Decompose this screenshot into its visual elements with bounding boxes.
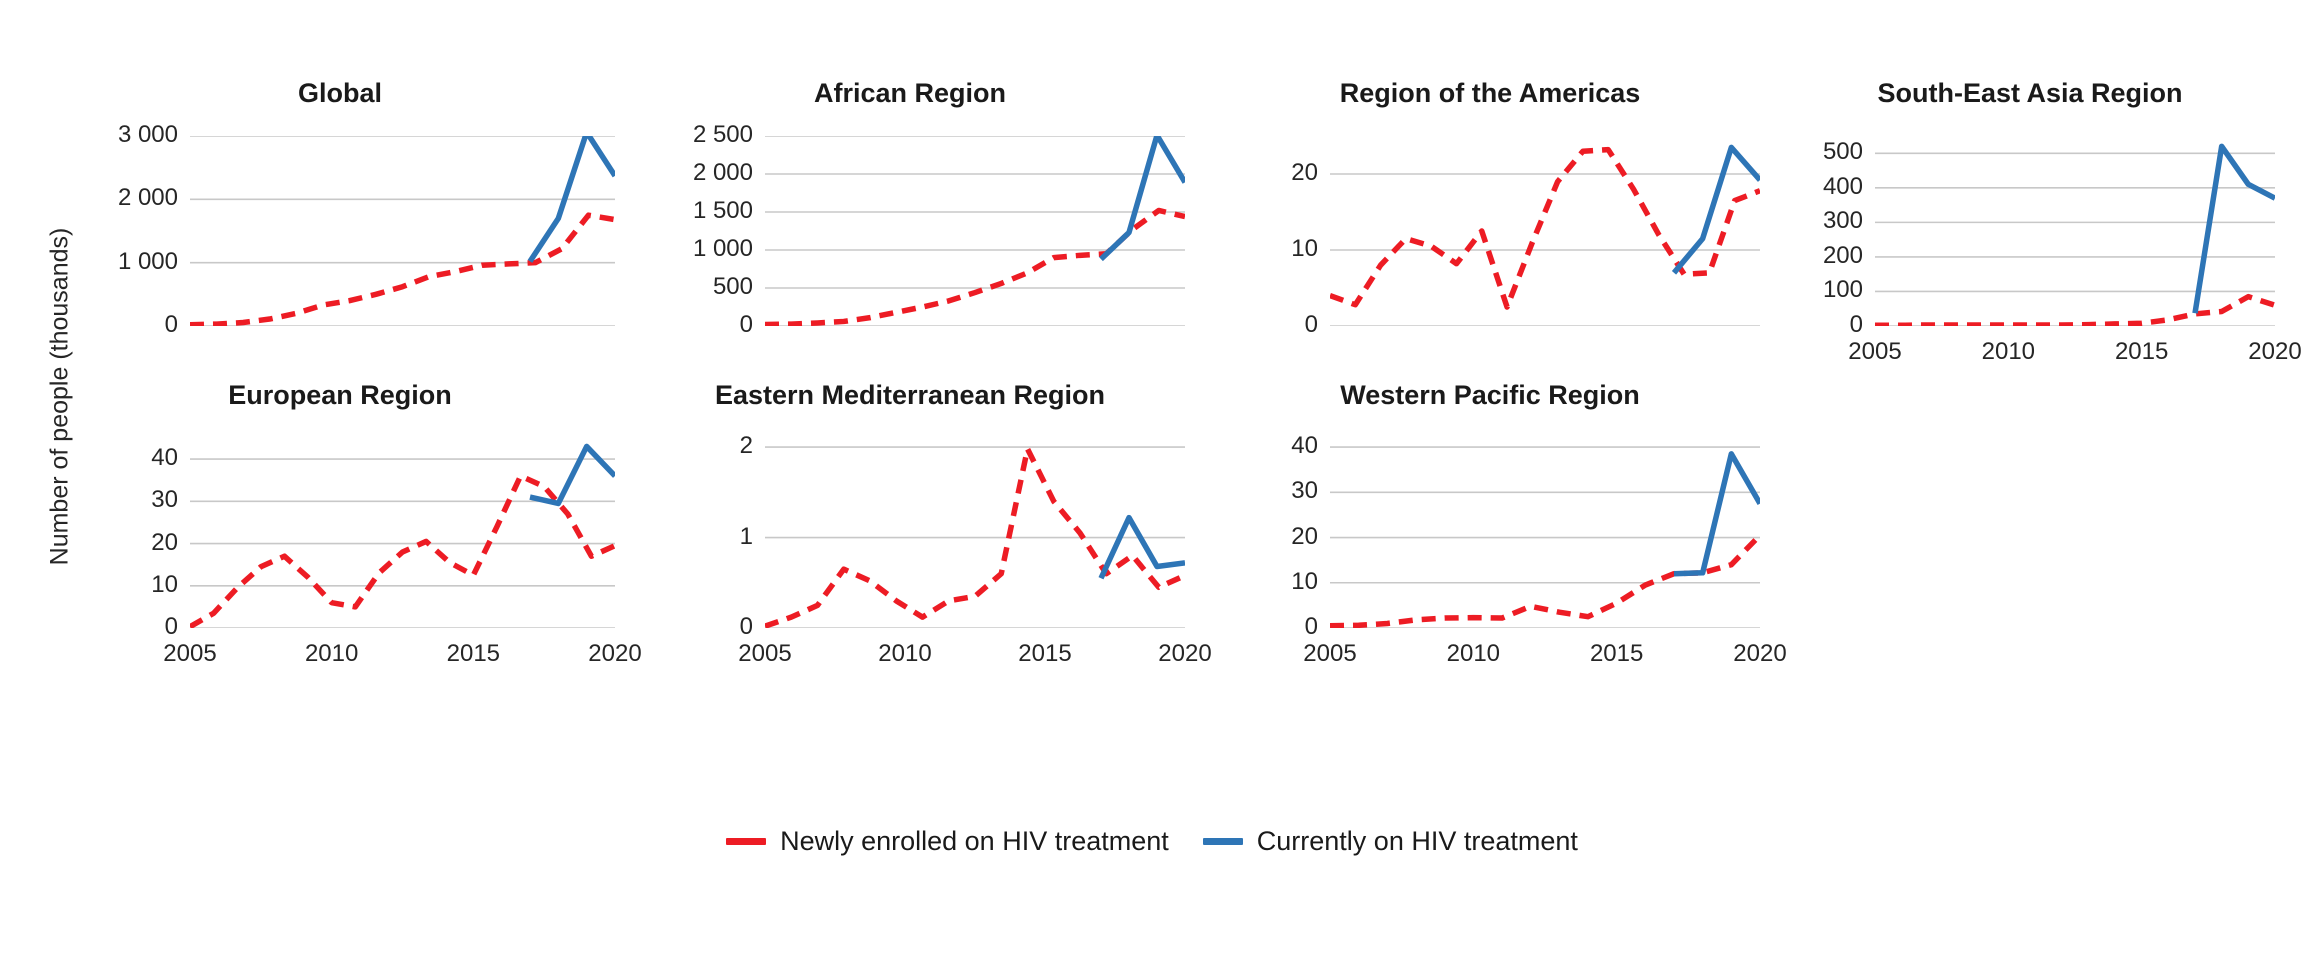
panel-title: Region of the Americas	[1210, 78, 1770, 109]
y-tick-label: 10	[28, 573, 178, 597]
chart-panel-wpro: Western Pacific Region010203040200520102…	[1210, 380, 1770, 710]
series-line-newly	[765, 210, 1185, 324]
y-tick-label: 200	[1713, 244, 1863, 268]
series-line-currently	[1674, 454, 1760, 574]
plot-area	[1875, 136, 2275, 326]
chart-panel-global: Global01 0002 0003 000	[60, 78, 620, 368]
legend-item-currently: Currently on HIV treatment	[1203, 826, 1578, 857]
x-tick-label: 2010	[1958, 340, 2058, 364]
y-tick-label: 30	[1168, 479, 1318, 503]
panel-title: African Region	[630, 78, 1190, 109]
y-tick-label: 10	[1168, 237, 1318, 261]
chart-figure: Number of people (thousands) Global01 00…	[0, 0, 2304, 960]
y-tick-label: 2 000	[28, 186, 178, 210]
y-tick-label: 0	[1168, 313, 1318, 337]
series-line-newly	[1875, 297, 2275, 326]
panel-title: Global	[60, 78, 620, 109]
plot-area	[765, 438, 1185, 628]
y-tick-label: 1	[603, 525, 753, 549]
y-tick-label: 0	[28, 313, 178, 337]
y-tick-label: 30	[28, 488, 178, 512]
x-tick-label: 2015	[423, 642, 523, 666]
y-tick-label: 0	[603, 313, 753, 337]
x-tick-label: 2010	[1423, 642, 1523, 666]
y-tick-label: 0	[603, 615, 753, 639]
panel-title: European Region	[60, 380, 620, 411]
x-tick-label: 2005	[1280, 642, 1380, 666]
y-tick-label: 500	[603, 275, 753, 299]
x-tick-label: 2015	[2092, 340, 2192, 364]
panel-title: Eastern Mediterranean Region	[630, 380, 1190, 411]
y-tick-label: 1 000	[28, 250, 178, 274]
y-tick-label: 0	[1168, 615, 1318, 639]
panel-title: South-East Asia Region	[1770, 78, 2290, 109]
x-tick-label: 2010	[282, 642, 382, 666]
panel-title: Western Pacific Region	[1210, 380, 1770, 411]
series-line-newly	[1330, 535, 1760, 625]
y-tick-label: 10	[1168, 570, 1318, 594]
x-tick-label: 2015	[1567, 642, 1667, 666]
y-tick-label: 40	[1168, 434, 1318, 458]
y-tick-label: 20	[1168, 161, 1318, 185]
chart-panel-europe: European Region0102030402005201020152020	[60, 380, 620, 710]
plot-area	[1330, 136, 1760, 326]
x-tick-label: 2005	[715, 642, 815, 666]
y-tick-label: 1 000	[603, 237, 753, 261]
y-tick-label: 0	[28, 615, 178, 639]
x-tick-label: 2020	[1710, 642, 1810, 666]
chart-panel-african: African Region05001 0001 5002 0002 500	[630, 78, 1190, 368]
x-tick-label: 2010	[855, 642, 955, 666]
plot-area	[190, 438, 615, 628]
legend-swatch-currently-icon	[1203, 838, 1243, 845]
y-tick-label: 300	[1713, 209, 1863, 233]
chart-panel-sea: South-East Asia Region010020030040050020…	[1770, 78, 2290, 423]
y-tick-label: 400	[1713, 175, 1863, 199]
x-tick-label: 2020	[2225, 340, 2304, 364]
x-tick-label: 2005	[1825, 340, 1925, 364]
plot-area	[190, 136, 615, 326]
y-tick-label: 20	[28, 531, 178, 555]
chart-legend: Newly enrolled on HIV treatmentCurrently…	[0, 826, 2304, 857]
legend-label: Newly enrolled on HIV treatment	[780, 826, 1169, 857]
x-tick-label: 2015	[995, 642, 1095, 666]
plot-area	[765, 136, 1185, 326]
y-tick-label: 40	[28, 446, 178, 470]
y-tick-label: 500	[1713, 140, 1863, 164]
legend-label: Currently on HIV treatment	[1257, 826, 1578, 857]
y-tick-label: 0	[1713, 313, 1863, 337]
plot-area	[1330, 438, 1760, 628]
y-tick-label: 2 000	[603, 161, 753, 185]
x-tick-label: 2005	[140, 642, 240, 666]
series-line-currently	[2195, 146, 2275, 313]
series-line-newly	[190, 476, 615, 627]
y-tick-label: 1 500	[603, 199, 753, 223]
y-tick-label: 2	[603, 434, 753, 458]
chart-panel-americas: Region of the Americas01020	[1210, 78, 1770, 368]
chart-panel-emro: Eastern Mediterranean Region012200520102…	[630, 380, 1190, 710]
y-tick-label: 20	[1168, 525, 1318, 549]
y-tick-label: 2 500	[603, 123, 753, 147]
y-tick-label: 100	[1713, 278, 1863, 302]
legend-swatch-newly-icon	[726, 838, 766, 845]
y-tick-label: 3 000	[28, 123, 178, 147]
legend-item-newly: Newly enrolled on HIV treatment	[726, 826, 1169, 857]
